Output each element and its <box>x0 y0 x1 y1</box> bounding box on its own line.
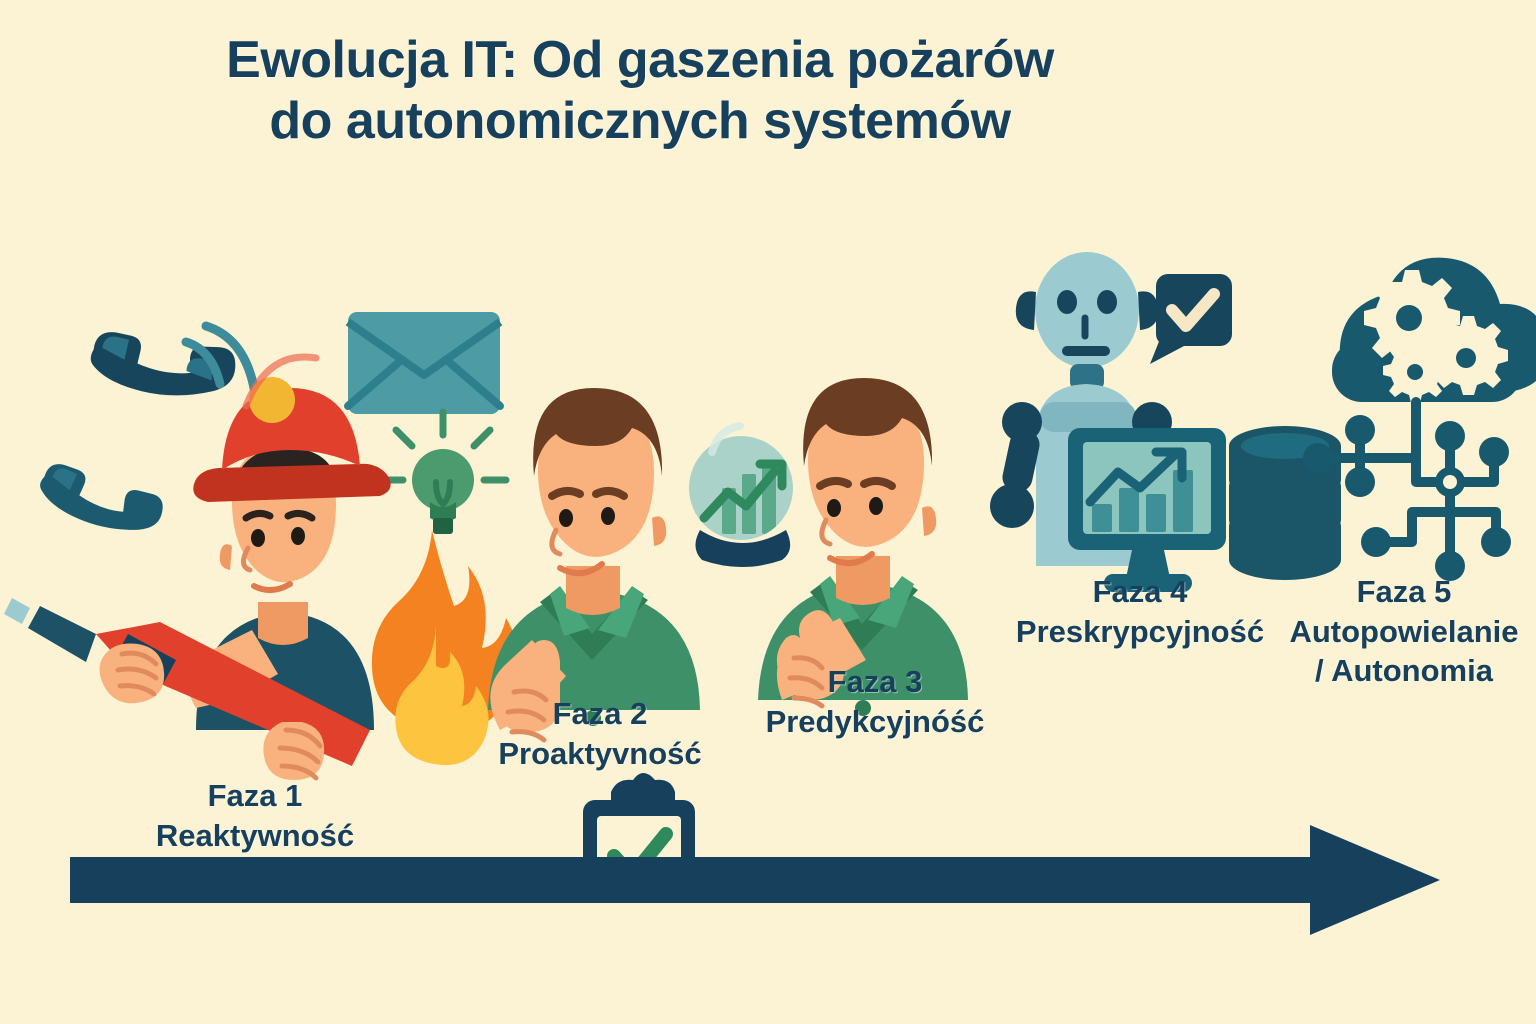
lightbulb-icon <box>381 412 506 534</box>
phase-1-illustration <box>4 278 519 780</box>
infographic-canvas: Ewolucja IT: Od gaszenia pożarów do auto… <box>0 0 1536 1024</box>
phase-4-illustration <box>990 252 1341 592</box>
crystal-ball-icon <box>689 426 793 567</box>
page-title: Ewolucja IT: Od gaszenia pożarów do auto… <box>0 30 1280 153</box>
speech-bubble-check-icon <box>1150 274 1232 364</box>
phone-handset-icon <box>34 428 170 564</box>
phase-2-illustration <box>488 388 700 870</box>
phase-4-caption: Faza 4 Preskrypcyjność <box>1000 572 1280 651</box>
phone-handset-icon <box>81 278 245 442</box>
phase-5-caption: Faza 5 Autopowielanie / Autonomia <box>1272 572 1536 691</box>
progression-arrow <box>70 825 1440 935</box>
phase-illustrations <box>0 230 1536 870</box>
cloud-gears-icon <box>1332 258 1536 403</box>
phase-2-caption: Faza 2 Proaktyvność <box>450 694 750 773</box>
envelope-icon <box>348 312 500 414</box>
firefighter-figure <box>4 357 391 780</box>
monitor-chart-icon <box>1068 428 1226 592</box>
phase-3-caption: Faza 3 Predykcyjnóść <box>730 662 1020 741</box>
